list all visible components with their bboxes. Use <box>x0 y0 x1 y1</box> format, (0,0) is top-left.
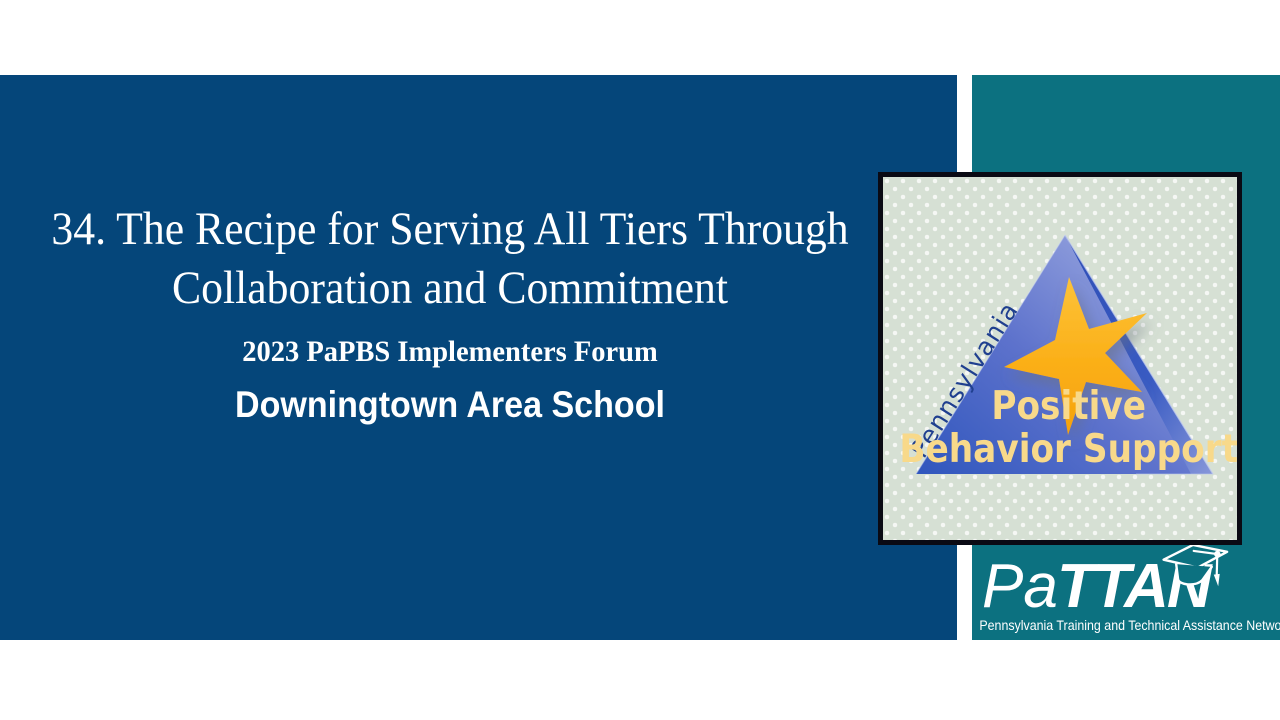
pbs-logo-line2: Behavior Support <box>899 426 1237 472</box>
pbs-logo: Pennsylvania Positive Behavior Support <box>878 172 1242 545</box>
slide-title: 34. The Recipe for Serving All Tiers Thr… <box>50 200 850 318</box>
slide-subtitle-organization: Downingtown Area School <box>54 382 845 428</box>
pattan-logo-graphic: Pa TTAN Pennsylvania Training and Techni… <box>972 545 1280 640</box>
pattan-logo: Pa TTAN Pennsylvania Training and Techni… <box>972 545 1280 640</box>
title-block: 34. The Recipe for Serving All Tiers Thr… <box>20 200 880 428</box>
pattan-wordmark-light: Pa <box>982 552 1058 621</box>
pbs-logo-line1: Positive <box>991 383 1146 429</box>
pbs-logo-graphic: Pennsylvania Positive Behavior Support <box>883 177 1237 540</box>
pattan-tagline: Pennsylvania Training and Technical Assi… <box>979 618 1280 634</box>
slide-subtitle-event: 2023 PaPBS Implementers Forum <box>42 332 859 372</box>
presentation-slide: 34. The Recipe for Serving All Tiers Thr… <box>0 0 1280 720</box>
